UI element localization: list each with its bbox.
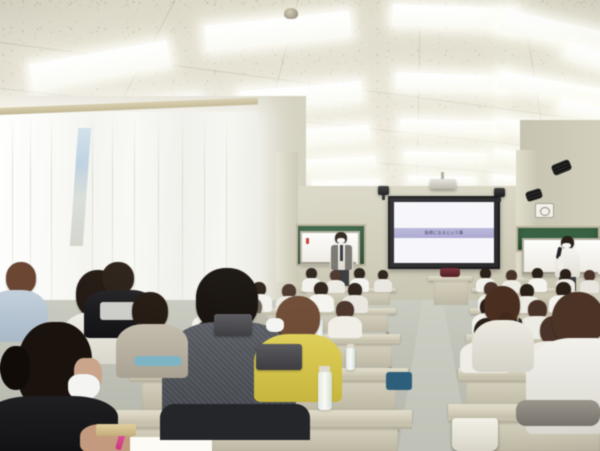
chair-backrest bbox=[516, 400, 600, 426]
bag-under-desk bbox=[386, 372, 412, 390]
face-mask bbox=[266, 318, 284, 332]
water-bottle bbox=[318, 372, 332, 410]
wall-column bbox=[276, 152, 298, 282]
clock-face bbox=[540, 207, 550, 216]
projection-screen: 医師になるという事 bbox=[388, 196, 500, 269]
presenter-vest bbox=[331, 245, 338, 270]
ceiling-projector bbox=[430, 179, 456, 189]
curtain-fold bbox=[51, 112, 52, 327]
attendee-hair-tie bbox=[0, 346, 30, 390]
whiteboard-marker bbox=[306, 238, 309, 244]
slide-title-text: 医師になるという事 bbox=[425, 230, 464, 236]
water-bottle bbox=[346, 348, 355, 370]
presenter-vest bbox=[345, 245, 352, 270]
attendee-lap bbox=[160, 404, 310, 440]
attendee-torso bbox=[328, 316, 362, 338]
lecture-hall-photo: 医師になるという事 bbox=[0, 0, 600, 451]
attendee-torso bbox=[472, 320, 534, 372]
ceiling-sensor-icon bbox=[284, 8, 298, 19]
ceiling-light bbox=[392, 4, 517, 30]
curtain-fold bbox=[182, 112, 183, 327]
chair-backrest bbox=[134, 356, 182, 366]
wall-speaker-left bbox=[378, 186, 389, 195]
speaker-bracket bbox=[382, 195, 385, 200]
attendee-torso bbox=[580, 280, 599, 293]
ceiling-light bbox=[400, 119, 496, 135]
ceiling-light bbox=[404, 151, 486, 162]
presenter-arm bbox=[558, 256, 564, 270]
slide-title-bar: 医師になるという事 bbox=[394, 228, 494, 238]
bottle-cap bbox=[347, 344, 354, 348]
presentation-slide: 医師になるという事 bbox=[394, 202, 494, 263]
bottle-cap bbox=[319, 366, 330, 372]
wall-speaker-center bbox=[494, 188, 505, 197]
speaker-bracket bbox=[498, 197, 501, 202]
tote-bag bbox=[452, 418, 498, 451]
chair bbox=[256, 344, 302, 370]
chair bbox=[214, 314, 252, 336]
attendee-torso bbox=[374, 279, 392, 292]
av-cart-body bbox=[434, 281, 468, 305]
wall-clock bbox=[535, 203, 554, 218]
presenter-tie bbox=[340, 245, 343, 261]
attendee-torso bbox=[116, 324, 188, 378]
pencil-case bbox=[96, 424, 136, 436]
bag-on-cart bbox=[440, 268, 460, 277]
attendee-torso bbox=[326, 280, 345, 293]
